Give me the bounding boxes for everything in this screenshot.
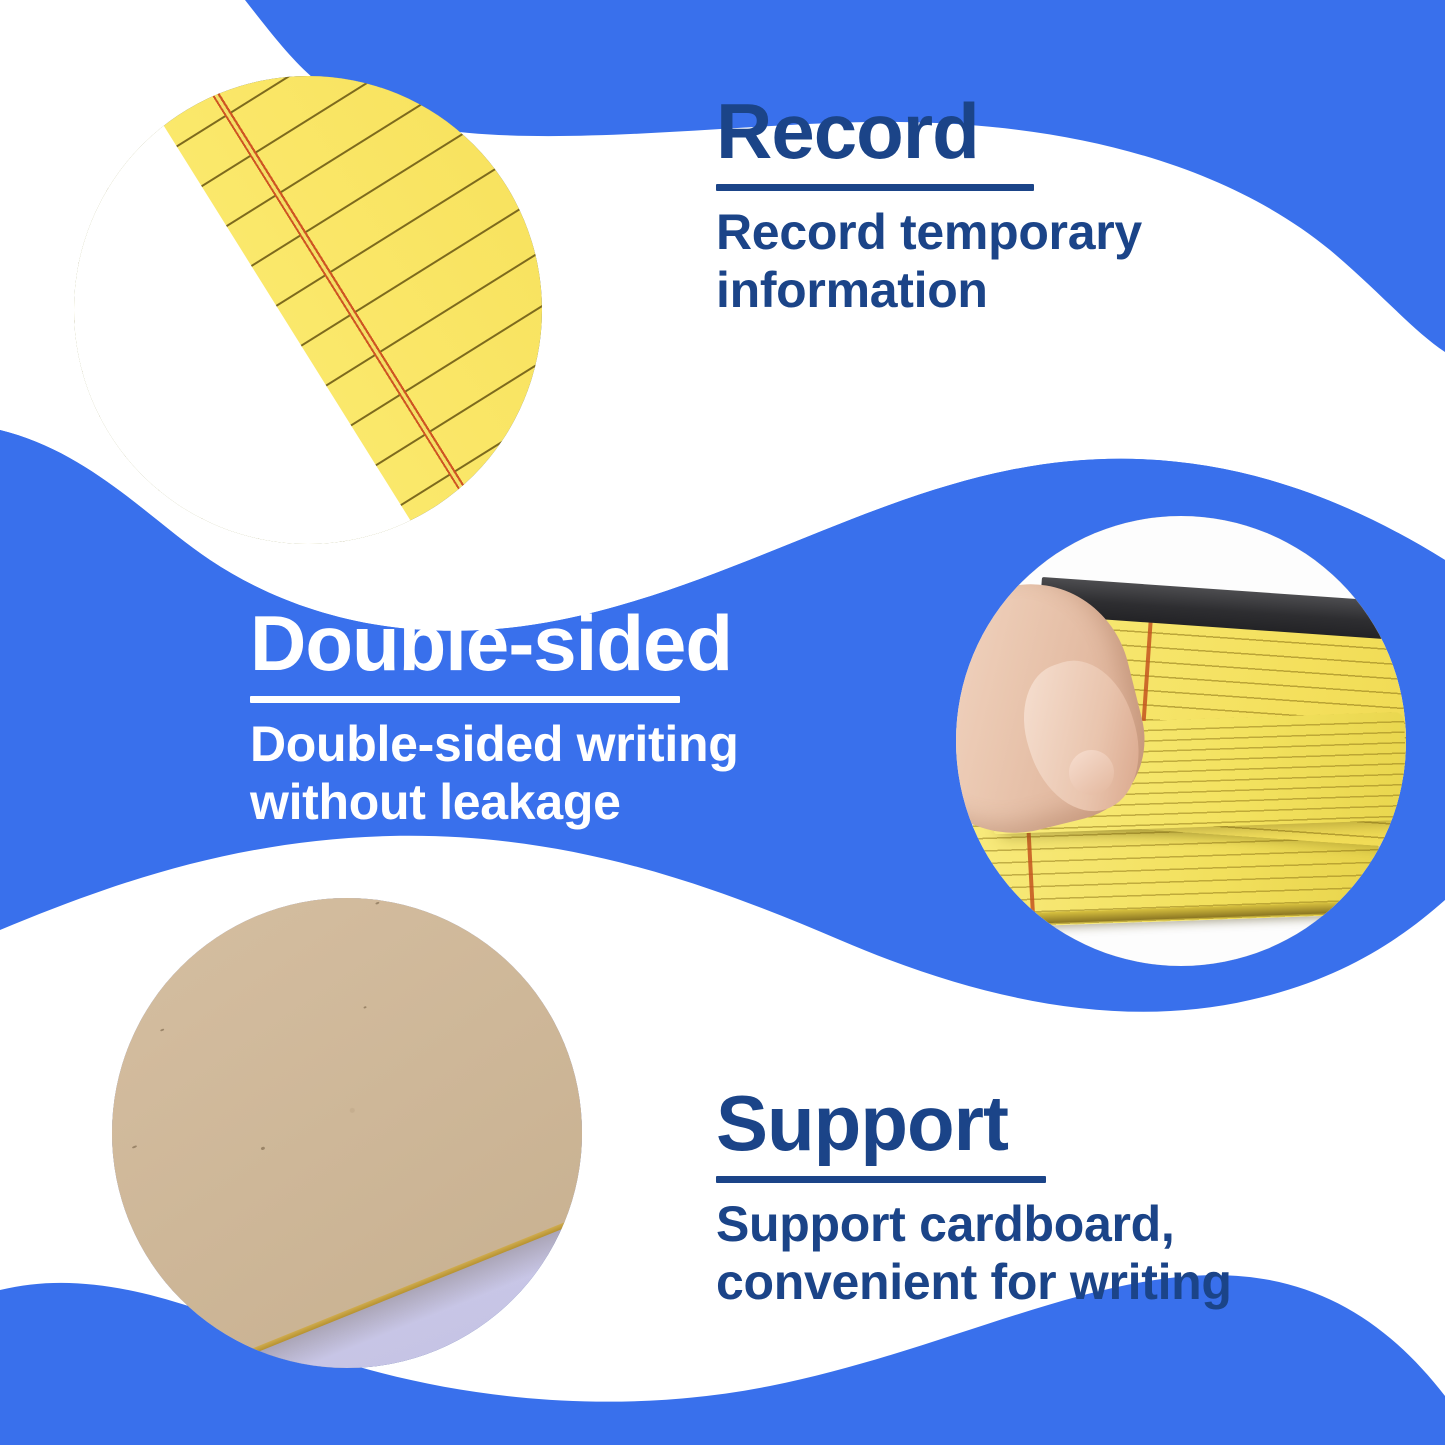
board-speck: [244, 915, 248, 919]
heading-underline-record: [716, 184, 1034, 191]
ruled-pad-photo: [74, 76, 542, 544]
feature-text-support: Support Support cardboard, convenient fo…: [716, 1084, 1406, 1311]
feature-subheading-record: Record temporary information: [716, 203, 1316, 319]
heading-underline-support: [716, 1176, 1046, 1183]
feature-subheading-support: Support cardboard, convenient for writin…: [716, 1195, 1406, 1311]
infographic-canvas: Record Record temporary information Doub…: [0, 0, 1445, 1445]
feature-text-record: Record Record temporary information: [716, 92, 1316, 319]
board-speck: [261, 1145, 266, 1149]
feature-text-double-sided: Double-sided Double-sided writing withou…: [250, 604, 890, 831]
feature-subheading-double-sided: Double-sided writing without leakage: [250, 715, 890, 831]
heading-underline-double-sided: [250, 696, 680, 703]
feature-image-record: [74, 76, 542, 544]
feature-heading-record: Record: [716, 92, 1316, 170]
cardboard-backing-photo: [112, 898, 582, 1368]
board-speck: [363, 1005, 367, 1008]
feature-heading-double-sided: Double-sided: [250, 604, 890, 682]
feature-heading-support: Support: [716, 1084, 1406, 1162]
board-speck: [375, 902, 379, 905]
hand-holding-pad-photo: [956, 516, 1406, 966]
board-speck: [160, 1028, 164, 1031]
board-speck: [131, 1145, 136, 1149]
feature-image-support: [112, 898, 582, 1368]
feature-image-double-sided: [956, 516, 1406, 966]
thumbnail-shape: [1069, 750, 1114, 795]
